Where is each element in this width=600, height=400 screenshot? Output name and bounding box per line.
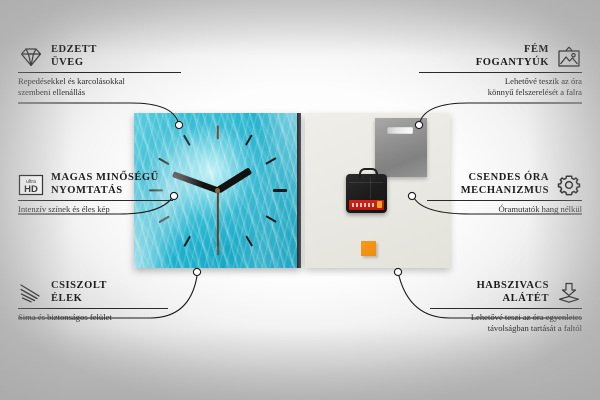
feature-title: CSENDES ÓRA MECHANIZMUS bbox=[461, 172, 549, 197]
clock-center-pivot bbox=[215, 188, 220, 193]
clock-tick bbox=[265, 215, 277, 223]
product-image bbox=[134, 113, 450, 268]
feature-callout-tempered-glass: EDZETT ÜVEG Repedésekkel és karcolásokka… bbox=[18, 44, 181, 97]
feature-callout-foam-pad: HABSZIVACS ALÁTÉT Lehetővé teszi az óra … bbox=[430, 280, 582, 333]
hd-label: HD bbox=[24, 184, 38, 195]
divider bbox=[18, 72, 181, 73]
metal-hanger-plate bbox=[375, 118, 427, 177]
battery-label bbox=[349, 200, 384, 210]
foam-spacer-pad bbox=[361, 241, 376, 256]
battery-text bbox=[352, 203, 374, 207]
feature-subtitle: Intenzív színek és éles kép bbox=[18, 204, 173, 215]
feature-subtitle: Lehetővé teszik az óra könnyű felszerelé… bbox=[419, 76, 582, 97]
clock-tick bbox=[265, 157, 277, 165]
feature-title: MAGAS MINŐSÉGŰ NYOMTATÁS bbox=[51, 172, 159, 197]
diamond-icon bbox=[18, 46, 44, 68]
feature-header: CSISZOLT ÉLEK bbox=[18, 280, 168, 305]
feature-subtitle: Sima és biztonságos felület bbox=[18, 312, 168, 323]
infographic-canvas: EDZETT ÜVEG Repedésekkel és karcolásokka… bbox=[0, 0, 600, 400]
hanger-keyhole-slot bbox=[387, 127, 413, 134]
picture-hanger-icon bbox=[556, 46, 582, 68]
feature-header: HABSZIVACS ALÁTÉT bbox=[430, 280, 582, 305]
clock-hour-hand bbox=[216, 168, 252, 194]
feature-title: HABSZIVACS ALÁTÉT bbox=[477, 280, 549, 305]
divider bbox=[18, 308, 168, 309]
feature-subtitle: Repedésekkel és karcolásokkal szembeni e… bbox=[18, 76, 181, 97]
clock-tick bbox=[182, 235, 190, 247]
clock-tick bbox=[273, 189, 287, 191]
feature-header: FÉM FOGANTYÚK bbox=[419, 44, 582, 69]
foam-pad-icon bbox=[556, 282, 582, 304]
feature-subtitle: Óramutatók hang nélkül bbox=[427, 204, 582, 215]
feature-subtitle: Lehetővé teszi az óra egyenletes távolsá… bbox=[430, 312, 582, 333]
feature-title: EDZETT ÜVEG bbox=[51, 44, 97, 69]
feature-header: CSENDES ÓRA MECHANIZMUS bbox=[427, 172, 582, 197]
ultra-hd-icon: ultra HD bbox=[18, 174, 44, 196]
feature-callout-silent-mechanism: CSENDES ÓRA MECHANIZMUS Óramutatók hang … bbox=[427, 172, 582, 215]
feature-title: FÉM FOGANTYÚK bbox=[476, 44, 549, 69]
feature-callout-high-quality-print: ultra HD MAGAS MINŐSÉGŰ NYOMTATÁS Intenz… bbox=[18, 172, 173, 215]
clock-minute-hand bbox=[171, 171, 218, 193]
mechanism-seam bbox=[349, 182, 383, 183]
clock-tick bbox=[158, 215, 170, 223]
feature-callout-metal-handles: FÉM FOGANTYÚK Lehetővé teszik az óra kön… bbox=[419, 44, 582, 97]
feature-callout-polished-edges: CSISZOLT ÉLEK Sima és biztonságos felüle… bbox=[18, 280, 168, 323]
gear-icon bbox=[556, 174, 582, 196]
mechanism-hanging-loop bbox=[359, 168, 378, 179]
clock-tick bbox=[216, 125, 218, 139]
feature-header: EDZETT ÜVEG bbox=[18, 44, 181, 69]
clock-tick bbox=[244, 235, 252, 247]
clock-second-hand bbox=[217, 190, 219, 246]
divider bbox=[18, 200, 173, 201]
clock-tick bbox=[244, 134, 252, 146]
feature-header: ultra HD MAGAS MINŐSÉGŰ NYOMTATÁS bbox=[18, 172, 173, 197]
feature-title: CSISZOLT ÉLEK bbox=[51, 280, 107, 305]
mechanism-seam-vertical bbox=[370, 177, 371, 199]
clock-mechanism bbox=[346, 174, 387, 213]
polished-edges-icon bbox=[18, 282, 44, 304]
divider bbox=[427, 200, 582, 201]
divider bbox=[430, 308, 582, 309]
clock-tick bbox=[158, 157, 170, 165]
divider bbox=[419, 72, 582, 73]
glass-edge bbox=[297, 113, 301, 268]
clock-tick bbox=[182, 134, 190, 146]
